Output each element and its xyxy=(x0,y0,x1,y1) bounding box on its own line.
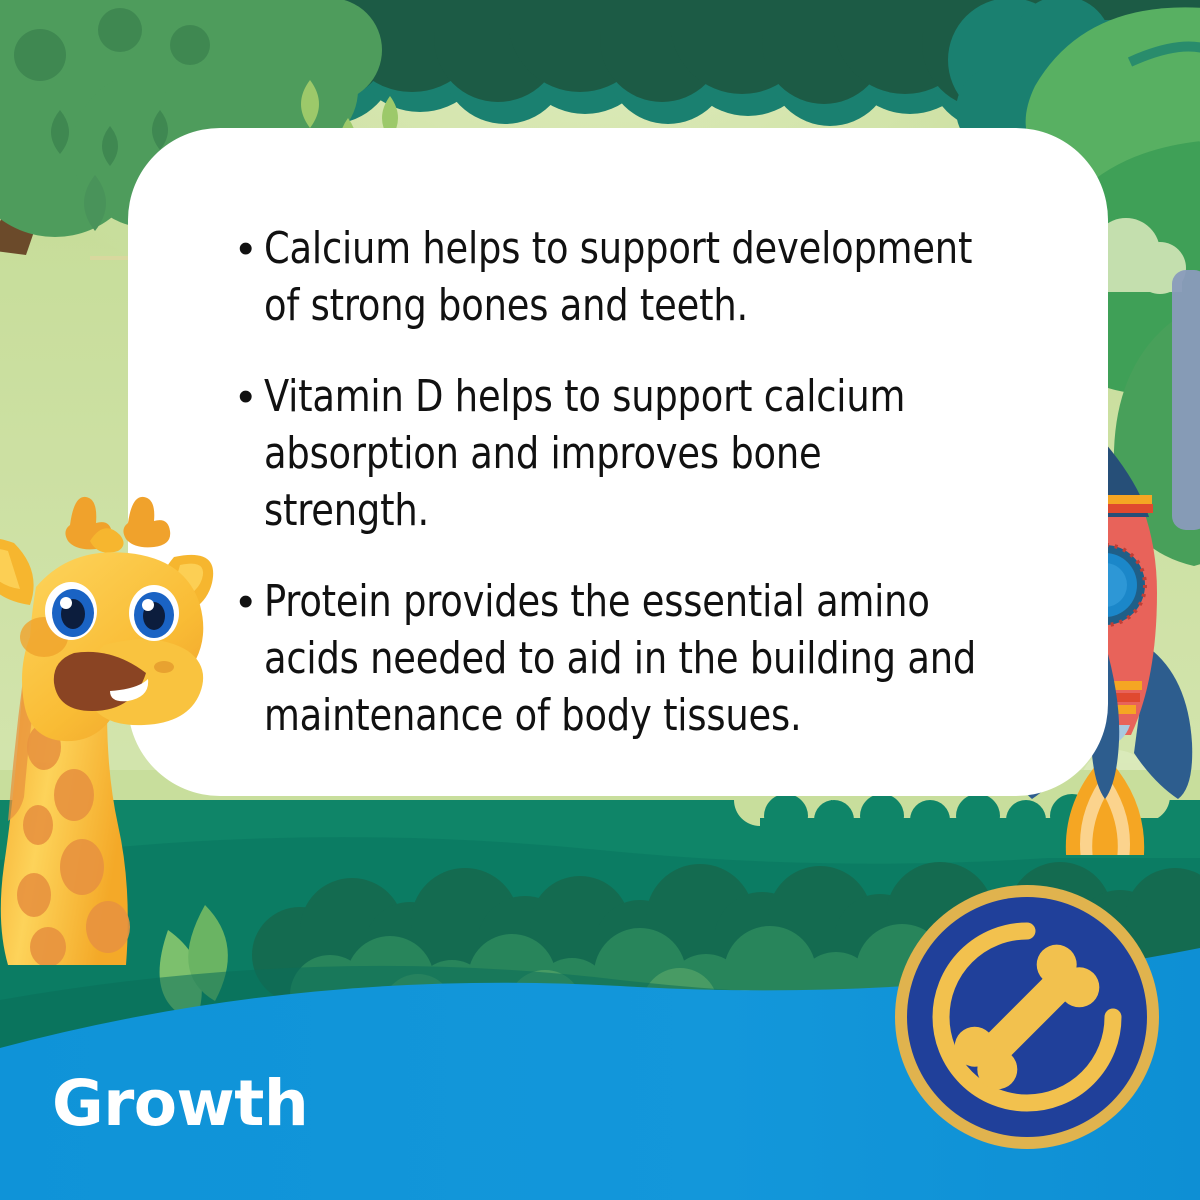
list-item: • Calcium helps to support development o… xyxy=(238,220,1048,334)
list-item: • Vitamin D helps to support calcium abs… xyxy=(238,368,1048,539)
bullet-marker: • xyxy=(238,368,264,425)
poster-canvas: • Calcium helps to support development o… xyxy=(0,0,1200,1200)
bullet-list: • Calcium helps to support development o… xyxy=(238,220,1048,744)
bullet-text: Vitamin D helps to support calcium absor… xyxy=(264,368,993,539)
giraffe-ossicones xyxy=(65,497,170,553)
giraffe-character xyxy=(0,495,243,965)
growth-badge[interactable] xyxy=(893,883,1161,1151)
bullet-marker: • xyxy=(238,220,264,277)
page-title: Growth xyxy=(52,1069,308,1139)
list-item: • Protein provides the essential amino a… xyxy=(238,573,1048,744)
bullet-text: Calcium helps to support development of … xyxy=(264,220,993,334)
giraffe-eye-left xyxy=(45,582,97,640)
bullet-text: Protein provides the essential amino aci… xyxy=(264,573,993,744)
giraffe-eye-right xyxy=(129,585,179,641)
content-card: • Calcium helps to support development o… xyxy=(128,128,1108,796)
giraffe-nostril xyxy=(154,661,174,673)
